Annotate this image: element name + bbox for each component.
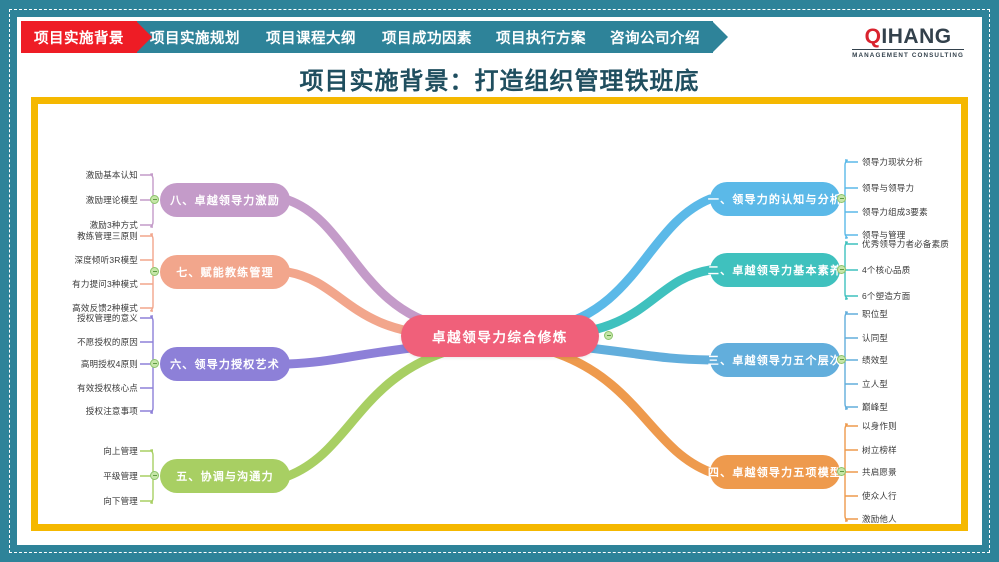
nav-tab-label-1: 项目实施规划 bbox=[144, 27, 246, 48]
nav-tab-label-3: 项目成功因素 bbox=[376, 27, 478, 48]
mindmap-leaf-b4-3: 使众人行 bbox=[862, 490, 897, 502]
mindmap-branch-b5[interactable]: 五、协调与沟通力 bbox=[160, 459, 290, 493]
mindmap-branch-label-b8: 八、卓越领导力激励 bbox=[170, 192, 280, 208]
mindmap-leaf-b5-1: 平级管理 bbox=[103, 470, 138, 482]
mindmap-branch-b7[interactable]: 七、赋能教练管理 bbox=[160, 255, 290, 289]
collapse-toggle-b6[interactable] bbox=[150, 359, 159, 368]
nav-tab-1[interactable]: 项目实施规划 bbox=[137, 21, 253, 53]
mindmap-leaf-b6-2: 高明授权4原则 bbox=[81, 358, 138, 370]
mindmap-branch-b1[interactable]: 一、领导力的认知与分析 bbox=[710, 182, 840, 216]
mindmap-branch-label-b2: 二、卓越领导力基本素养 bbox=[708, 262, 842, 278]
nav-tab-label-5: 咨询公司介绍 bbox=[604, 27, 706, 48]
collapse-toggle-b8[interactable] bbox=[150, 195, 159, 204]
mindmap-leaf-b3-1: 认同型 bbox=[862, 332, 888, 344]
mindmap-leaf-b1-2: 领导力组成3要素 bbox=[862, 206, 928, 218]
mindmap-branch-b2[interactable]: 二、卓越领导力基本素养 bbox=[710, 253, 840, 287]
mindmap-leaf-b7-2: 有力提问3种模式 bbox=[72, 278, 138, 290]
mindmap-leaf-b3-2: 绩效型 bbox=[862, 354, 888, 366]
slide-root: 项目实施背景 项目实施规划 项目课程大纲 bbox=[0, 0, 999, 562]
mindmap-branch-b3[interactable]: 三、卓越领导力五个层次 bbox=[710, 343, 840, 377]
mindmap-leaf-b1-1: 领导与领导力 bbox=[862, 182, 914, 194]
mindmap-branch-b8[interactable]: 八、卓越领导力激励 bbox=[160, 183, 290, 217]
mindmap-leaf-b6-1: 不愿授权的原因 bbox=[77, 336, 138, 348]
mindmap-branch-label-b5: 五、协调与沟通力 bbox=[176, 468, 274, 484]
mindmap-leaf-b4-0: 以身作则 bbox=[862, 420, 897, 432]
collapse-toggle-b1[interactable] bbox=[837, 194, 846, 203]
mindmap-leaf-b4-1: 树立榜样 bbox=[862, 444, 897, 456]
mindmap-leaf-b6-4: 授权注意事项 bbox=[86, 405, 138, 417]
mindmap-leaf-b7-0: 教练管理三原则 bbox=[77, 230, 138, 242]
mindmap-branch-label-b1: 一、领导力的认知与分析 bbox=[708, 191, 842, 207]
logo-initial: Q bbox=[865, 25, 882, 48]
mindmap-leaf-b4-2: 共启愿景 bbox=[862, 466, 897, 478]
collapse-toggle-b5[interactable] bbox=[150, 471, 159, 480]
tab-arrow-icon bbox=[712, 21, 728, 53]
mindmap-leaf-b7-1: 深度倾听3R模型 bbox=[75, 254, 138, 266]
mindmap-leaf-b6-3: 有效授权核心点 bbox=[77, 382, 138, 394]
mindmap-leaf-b5-0: 向上管理 bbox=[103, 445, 138, 457]
nav-tab-5[interactable]: 咨询公司介绍 bbox=[597, 21, 713, 53]
mindmap-leaf-b6-0: 授权管理的意义 bbox=[77, 312, 138, 324]
mindmap-leaf-b3-3: 立人型 bbox=[862, 378, 888, 390]
section-nav: 项目实施背景 项目实施规划 项目课程大纲 bbox=[17, 17, 982, 57]
mindmap-leaf-b2-1: 4个核心品质 bbox=[862, 264, 910, 276]
nav-tab-2[interactable]: 项目课程大纲 bbox=[253, 21, 369, 53]
logo-wordmark: IHANG bbox=[881, 25, 951, 48]
nav-tab-0[interactable]: 项目实施背景 bbox=[21, 21, 137, 53]
mindmap-leaf-b8-1: 激励理论模型 bbox=[86, 194, 138, 206]
mindmap-branch-b6[interactable]: 六、领导力授权艺术 bbox=[160, 347, 290, 381]
brand-logo: QIHANG MANAGEMENT CONSULTING bbox=[852, 26, 964, 59]
mindmap-branch-label-b6: 六、领导力授权艺术 bbox=[170, 356, 280, 372]
mindmap-branch-label-b4: 四、卓越领导力五项模型 bbox=[708, 464, 842, 480]
page-title: 项目实施背景：打造组织管理铁班底 bbox=[17, 61, 982, 96]
nav-tab-label-0: 项目实施背景 bbox=[28, 27, 130, 48]
mindmap-leaf-b8-0: 激励基本认知 bbox=[86, 169, 138, 181]
collapse-toggle-b3[interactable] bbox=[837, 355, 846, 364]
mindmap-leaf-b3-0: 职位型 bbox=[862, 308, 888, 320]
nav-tab-label-2: 项目课程大纲 bbox=[260, 27, 362, 48]
collapse-toggle-b2[interactable] bbox=[837, 265, 846, 274]
collapse-toggle-b4[interactable] bbox=[837, 467, 846, 476]
mindmap-branch-label-b7: 七、赋能教练管理 bbox=[176, 264, 274, 280]
mindmap-leaf-b5-2: 向下管理 bbox=[103, 495, 138, 507]
collapse-toggle-b7[interactable] bbox=[150, 267, 159, 276]
mindmap-leaf-b4-4: 激励他人 bbox=[862, 513, 897, 524]
mindmap-frame: 卓越领导力综合修炼 一、领导力的认知与分析 领导力现状分析 领导与领导力 领导力… bbox=[31, 97, 968, 531]
nav-tab-4[interactable]: 项目执行方案 bbox=[485, 21, 597, 53]
mindmap-center-node[interactable]: 卓越领导力综合修炼 bbox=[401, 315, 599, 357]
nav-tab-label-4: 项目执行方案 bbox=[490, 27, 592, 48]
mindmap-leaf-b2-0: 优秀领导力者必备素质 bbox=[862, 238, 949, 250]
nav-tab-3[interactable]: 项目成功因素 bbox=[369, 21, 485, 53]
logo-tagline: MANAGEMENT CONSULTING bbox=[852, 49, 964, 59]
mindmap-center-label: 卓越领导力综合修炼 bbox=[432, 326, 568, 346]
mindmap-leaf-b3-4: 巅峰型 bbox=[862, 401, 888, 413]
mindmap-panel: 卓越领导力综合修炼 一、领导力的认知与分析 领导力现状分析 领导与领导力 领导力… bbox=[38, 104, 961, 524]
collapse-toggle-center[interactable] bbox=[604, 331, 613, 340]
mindmap-branch-label-b3: 三、卓越领导力五个层次 bbox=[708, 352, 842, 368]
content-sheet: 项目实施背景 项目实施规划 项目课程大纲 bbox=[17, 17, 982, 545]
mindmap-branch-b4[interactable]: 四、卓越领导力五项模型 bbox=[710, 455, 840, 489]
mindmap-leaf-b2-2: 6个塑造方面 bbox=[862, 290, 910, 302]
mindmap-leaf-b1-0: 领导力现状分析 bbox=[862, 156, 923, 168]
